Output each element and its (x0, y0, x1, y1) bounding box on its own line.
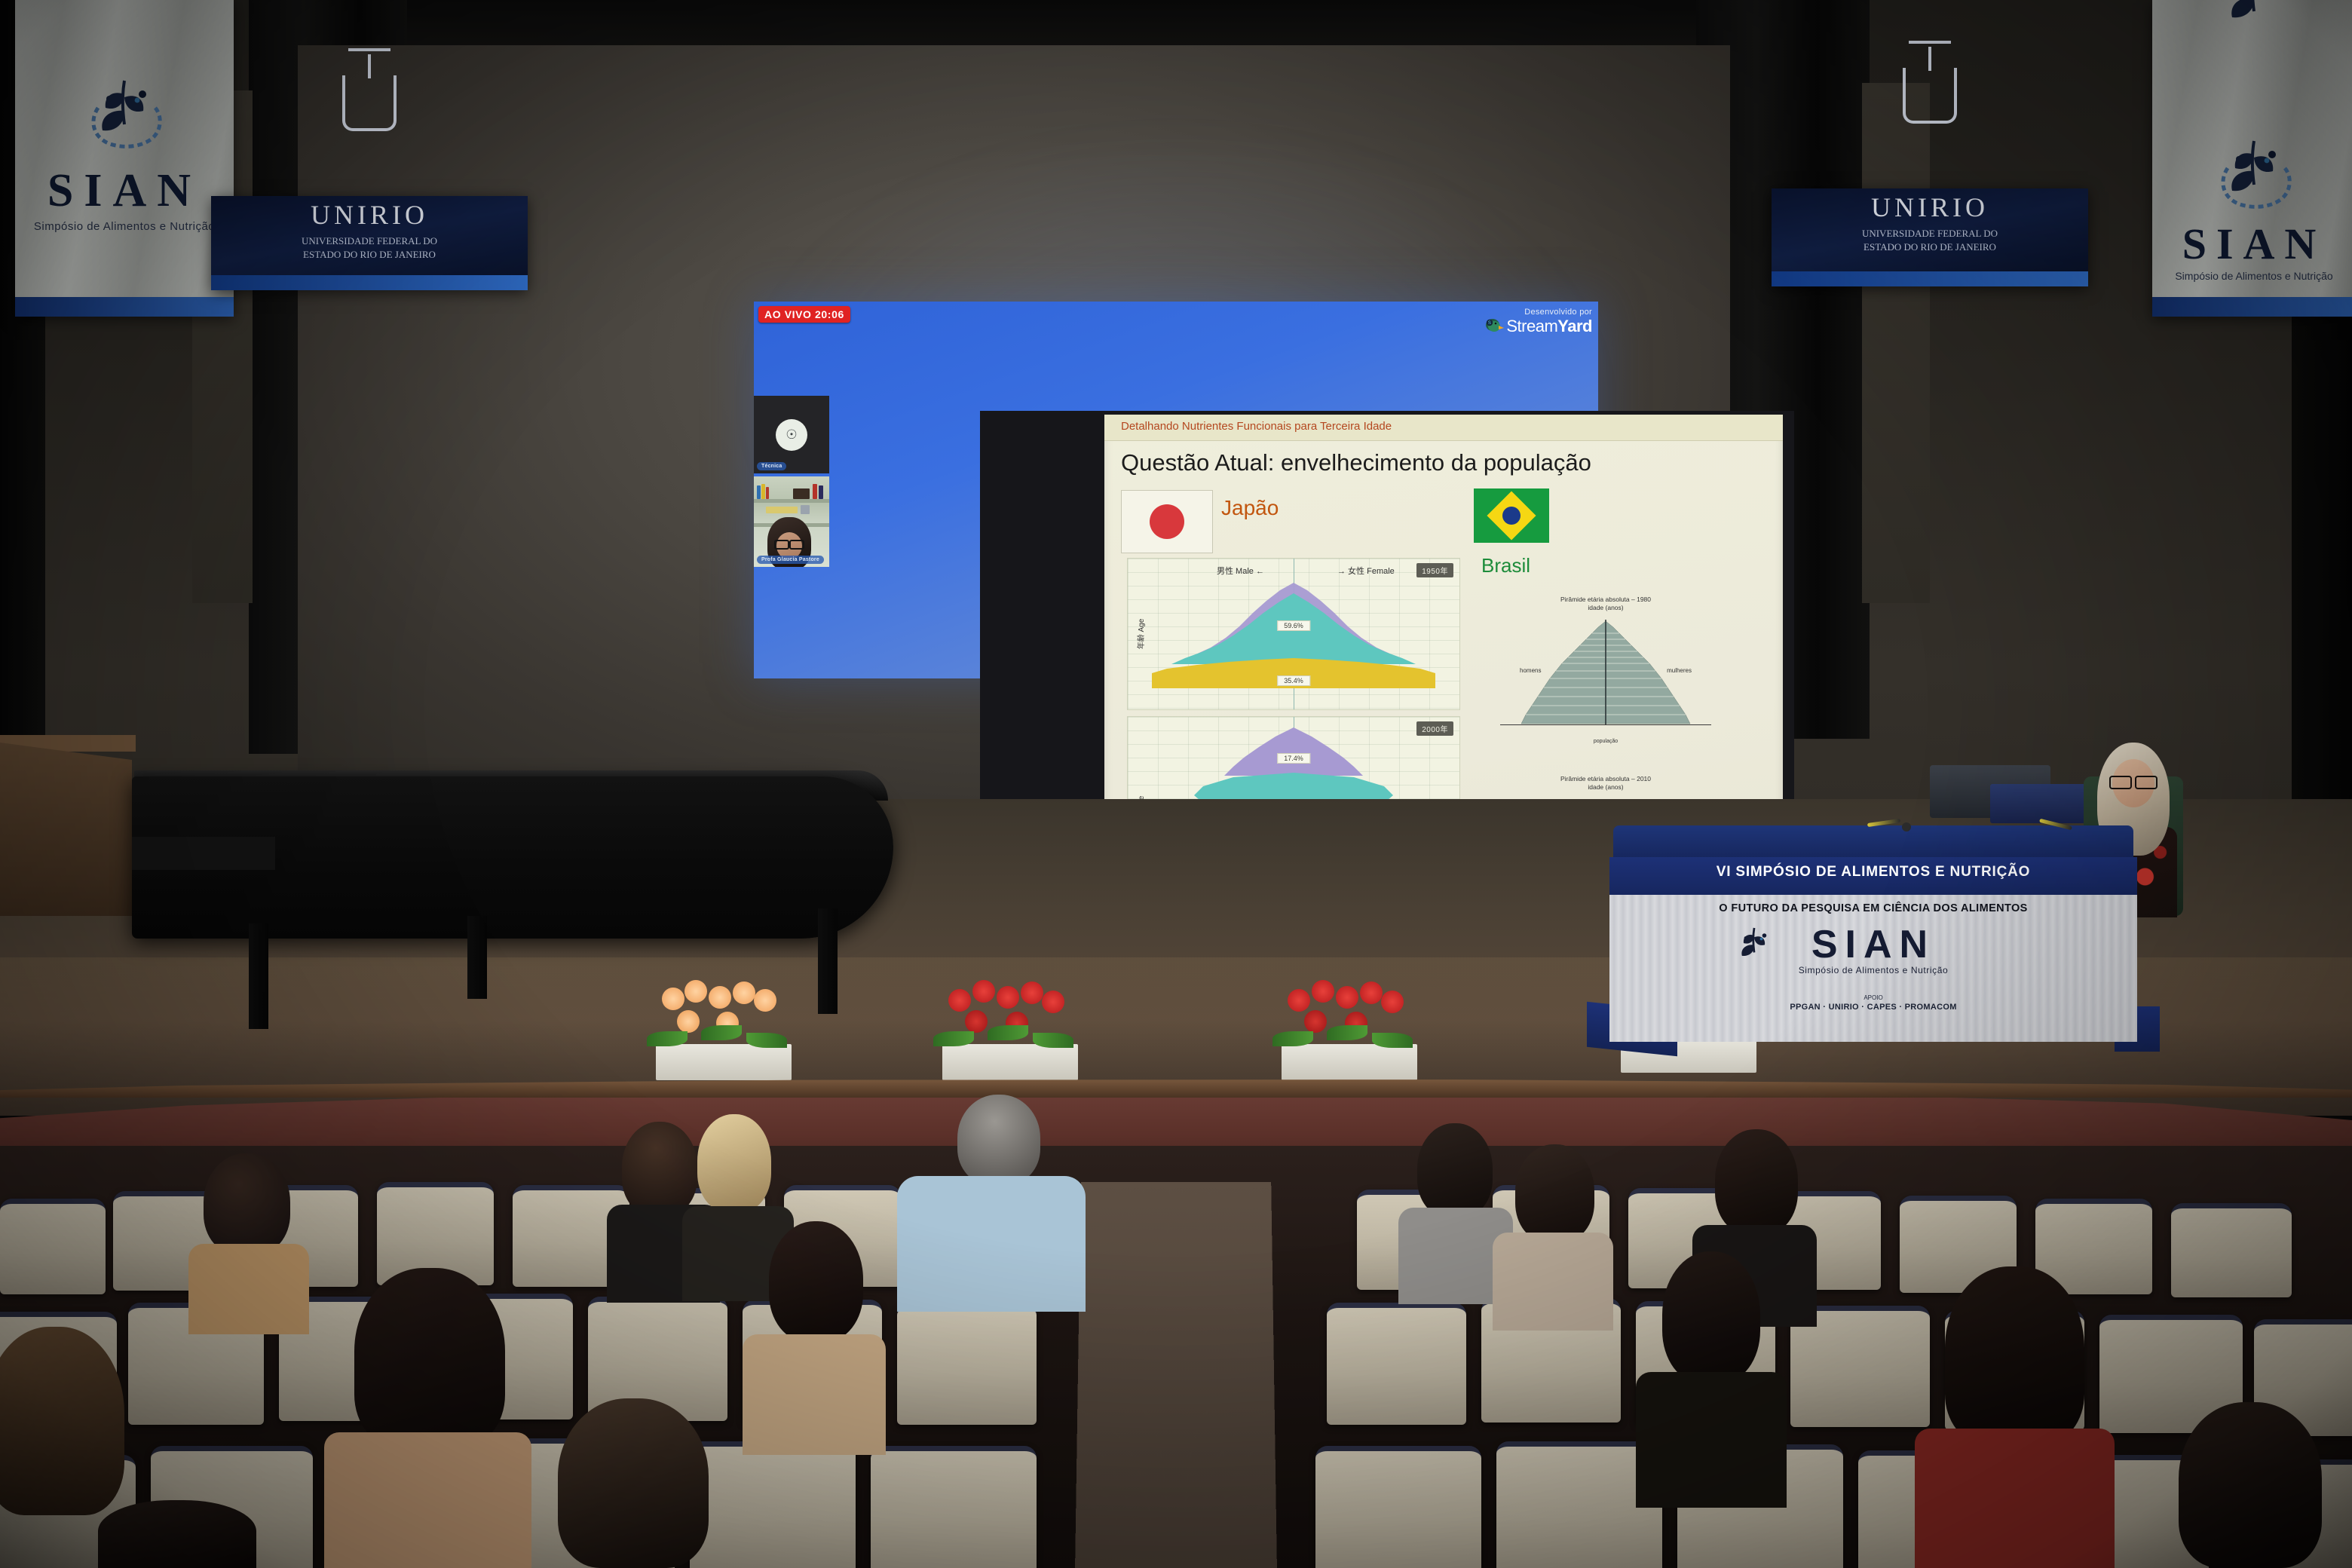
eyeglasses-icon (774, 540, 804, 547)
brazil-country-label: Brasil (1481, 554, 1530, 577)
unirio-line1: UNIVERSIDADE FEDERAL DO (211, 235, 528, 248)
sian-wordmark: SIAN (15, 164, 234, 218)
banner-sian-right: SIAN Simpósio de Alimentos e Nutrição (2152, 0, 2352, 317)
wall-panel-right (1862, 83, 1930, 603)
piano-keyboard-case (132, 837, 275, 870)
slide-title: Questão Atual: envelhecimento da populaç… (1121, 449, 1591, 476)
chart-subcaption: idade (anos) (1481, 604, 1730, 612)
segment-percent-elderly: 17.4% (1277, 753, 1310, 764)
participant-tile-speaker[interactable]: Profa Glaucia Pastore (754, 476, 829, 567)
slide-header-text: Detalhando Nutrientes Funcionais para Te… (1121, 420, 1392, 433)
unirio-wordmark: UNIRIO (211, 199, 528, 231)
chart-caption: Pirâmide etária absoluta – 2010 (1481, 775, 1730, 783)
wooden-lectern (0, 743, 132, 916)
banner-bottom-stripe (15, 297, 234, 317)
sponsor-logos: PPGAN · UNIRIO · CAPES · PROMACOM (1609, 1003, 2137, 1012)
seat[interactable] (871, 1446, 1037, 1568)
svg-text:S: S (1488, 321, 1491, 326)
seat[interactable] (690, 1441, 856, 1568)
developed-by-credit: Desenvolvido por S StreamYard (1484, 308, 1592, 335)
chart-caption: Pirâmide etária absoluta – 1980 (1481, 596, 1730, 604)
flag-japan-icon (1121, 490, 1213, 553)
sian-leaf-dna-icon (2197, 132, 2311, 215)
unirio-wordmark: UNIRIO (1772, 191, 2088, 223)
speaker-table: VI SIMPÓSIO DE ALIMENTOS E NUTRIÇÃO O FU… (1587, 825, 2160, 1052)
auditorium-scene: AO VIVO 20:06 Desenvolvido por S StreamY… (0, 0, 2352, 1568)
participant-name-tag: Técnica (757, 462, 786, 470)
piano-leg (249, 923, 268, 1029)
sian-tagline: Simpósio de Alimentos e Nutrição (15, 220, 234, 233)
sian-leaf-dna-icon (68, 72, 181, 155)
chart-japan-1950: 1950年 男性 Male ← → 女性 Female 年齢 Age 59. (1127, 558, 1460, 710)
seat[interactable] (0, 1199, 106, 1294)
unirio-line2: ESTADO DO RIO DE JANEIRO (1772, 241, 2088, 254)
sian-wordmark: SIAN (1609, 925, 2137, 964)
table-top (1613, 825, 2133, 860)
sian-tagline: Simpósio de Alimentos e Nutrição (2152, 270, 2352, 282)
symposium-title: VI SIMPÓSIO DE ALIMENTOS E NUTRIÇÃO (1609, 864, 2137, 880)
piano-leg (467, 916, 487, 999)
piano-leg (818, 908, 838, 1014)
banner-unirio-left: UNIRIO UNIVERSIDADE FEDERAL DO ESTADO DO… (211, 196, 528, 290)
banner-bottom-stripe (2152, 297, 2352, 317)
unirio-u-icon (342, 75, 397, 131)
slide-header-band: Detalhando Nutrientes Funcionais para Te… (1104, 415, 1783, 441)
brazil-female-label: mulheres (1667, 667, 1692, 674)
unirio-line1: UNIVERSIDADE FEDERAL DO (1772, 228, 2088, 240)
unirio-u-icon (1903, 68, 1957, 124)
seat[interactable] (1315, 1446, 1481, 1568)
flag-brazil-icon (1474, 488, 1549, 543)
streamyard-word-bold: Yard (1557, 317, 1592, 335)
microphone-head-icon (1902, 822, 1911, 831)
av-equipment-case (1990, 784, 2088, 823)
unirio-line2: ESTADO DO RIO DE JANEIRO (211, 249, 528, 262)
eyeglasses-icon (2109, 776, 2158, 786)
brazil-male-label: homens (1520, 667, 1541, 674)
seat[interactable] (1327, 1303, 1466, 1425)
brazil-x-axis-label: população (1481, 739, 1730, 744)
banner-unirio-right: UNIRIO UNIVERSIDADE FEDERAL DO ESTADO DO… (1772, 188, 2088, 286)
person-silhouette-icon: ☉ (786, 427, 797, 443)
segment-percent-young: 35.4% (1277, 675, 1310, 686)
banner-bottom-stripe (211, 275, 528, 290)
sian-leaf-dna-icon (2197, 0, 2311, 41)
sian-tagline: Simpósio de Alimentos e Nutrição (1609, 965, 2137, 975)
support-label: APOIO (1609, 994, 2137, 1001)
japan-country-label: Japão (1221, 496, 1279, 520)
streamyard-wordmark: StreamYard (1506, 318, 1592, 335)
symposium-subtitle: O FUTURO DA PESQUISA EM CIÊNCIA DOS ALIM… (1609, 902, 2137, 914)
streamyard-broadcast-canvas[interactable]: AO VIVO 20:06 Desenvolvido por S StreamY… (754, 302, 1598, 678)
sian-wordmark: SIAN (2152, 219, 2352, 269)
center-aisle (1075, 1182, 1277, 1568)
segment-percent-working: 59.6% (1277, 620, 1310, 631)
developed-by-label: Desenvolvido por (1484, 308, 1592, 317)
sian-leaf-dna-icon (1723, 922, 1786, 970)
seat[interactable] (2171, 1203, 2292, 1297)
table-banner-panel: O FUTURO DA PESQUISA EM CIÊNCIA DOS ALIM… (1609, 895, 2137, 1042)
participant-tile-tecnica[interactable]: ☉ Técnica (754, 396, 829, 473)
table-sian-logo: SIAN Simpósio de Alimentos e Nutrição (1609, 925, 2137, 975)
streamyard-duck-icon: S (1484, 318, 1504, 335)
banner-sian-left: SIAN Simpósio de Alimentos e Nutrição (15, 0, 234, 317)
table-banner-top: VI SIMPÓSIO DE ALIMENTOS E NUTRIÇÃO (1609, 857, 2137, 896)
banner-bottom-stripe (1772, 271, 2088, 286)
streamyard-word-light: Stream (1506, 317, 1557, 335)
chart-subcaption: idade (anos) (1481, 783, 1730, 792)
chart-brazil-1980: Pirâmide etária absoluta – 1980 idade (a… (1481, 596, 1730, 744)
participant-name-tag: Profa Glaucia Pastore (757, 556, 824, 564)
seat[interactable] (897, 1303, 1037, 1425)
live-indicator-badge: AO VIVO 20:06 (758, 306, 850, 323)
